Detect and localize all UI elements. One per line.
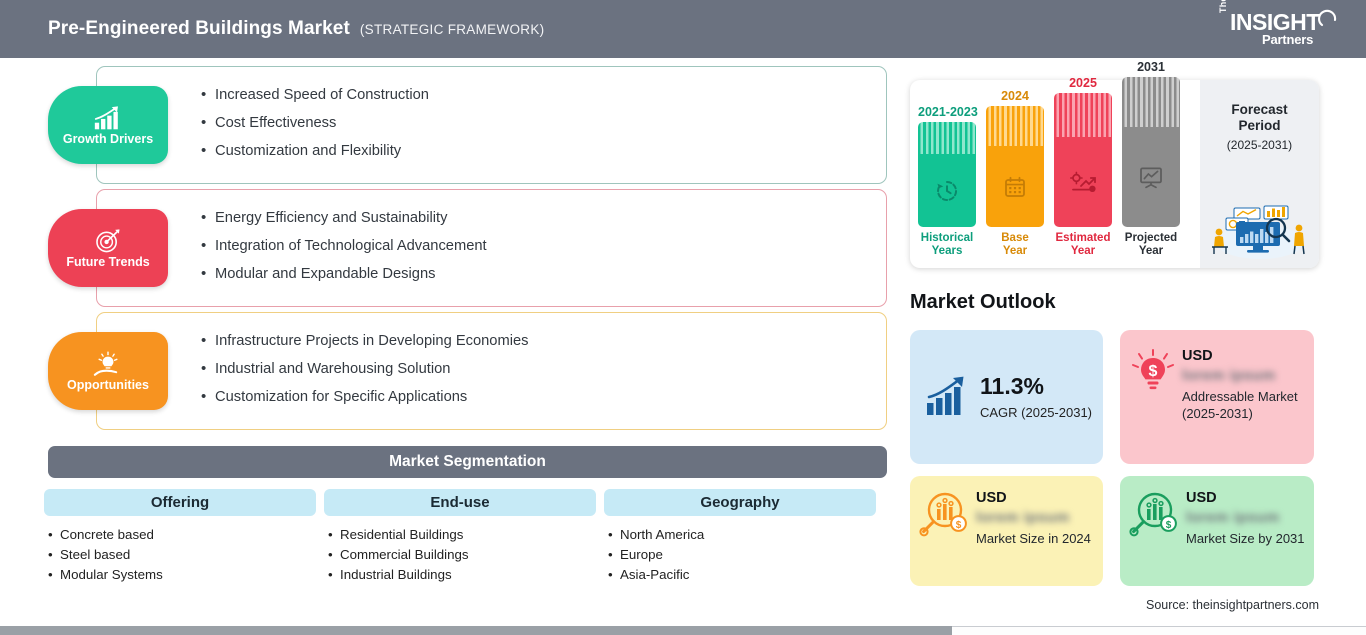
list-item: Europe: [608, 545, 876, 565]
list-item: Concrete based: [48, 525, 316, 545]
list-item: Modular Systems: [48, 565, 316, 585]
svg-text:$: $: [956, 520, 962, 531]
market-outlook-title: Market Outlook: [910, 291, 1056, 314]
bar-solid: [1054, 137, 1112, 227]
list-item: Infrastructure Projects in Developing Ec…: [201, 327, 861, 355]
badge-future-trends[interactable]: Future Trends: [48, 209, 168, 287]
forecast-bar-estimated: 2025: [1054, 76, 1112, 258]
forecast-bars: 2021-2023 Historical Ye: [910, 80, 1200, 268]
forecast-title-line2: Period: [1238, 118, 1280, 133]
bullet-list-opportunities: Infrastructure Projects in Developing Ec…: [201, 327, 861, 411]
forecast-title-line1: Forecast: [1231, 102, 1287, 117]
factor-row-opportunities: Infrastructure Projects in Developing Ec…: [0, 312, 900, 430]
bar-chart-arrow-icon: [924, 375, 972, 419]
outlook-card-body: USD lorem ipsum Market Size in 2024: [976, 490, 1095, 547]
scrollbar-thumb[interactable]: [0, 626, 952, 635]
bar-stripes: [986, 106, 1044, 146]
header-titles: Pre-Engineered Buildings Market (STRATEG…: [48, 18, 544, 40]
list-item: Industrial Buildings: [328, 565, 596, 585]
bar-name-line1: Historical: [921, 232, 973, 244]
hidden-value: lorem ipsum: [1186, 509, 1306, 526]
usd-label: USD: [976, 490, 1095, 506]
bar-name-line1: Projected: [1125, 232, 1177, 244]
list-item: Energy Efficiency and Sustainability: [201, 204, 861, 232]
forecast-period-title: Forecast Period: [1231, 102, 1287, 134]
bar-stripes: [1054, 93, 1112, 137]
clock-history-icon: [934, 178, 960, 204]
outlook-card-addressable-market: $ USD lorem ipsum Addressable Market (20…: [1120, 330, 1314, 464]
logo-the: The: [1218, 0, 1228, 13]
bar-year-label: 2021-2023: [918, 105, 976, 119]
outlook-card-cagr: 11.3% CAGR (2025-2031): [910, 330, 1103, 464]
outlook-card-body: USD lorem ipsum Market Size by 2031: [1186, 490, 1306, 547]
list-item: Commercial Buildings: [328, 545, 596, 565]
bar-name-line1: Estimated: [1056, 232, 1111, 244]
calendar-icon: [1003, 175, 1027, 199]
svg-text:$: $: [1149, 363, 1158, 380]
factor-box-growth-drivers: Increased Speed of Construction Cost Eff…: [96, 66, 887, 184]
badge-label: Opportunities: [67, 379, 149, 392]
bar-name: Historical Years: [918, 232, 976, 258]
outlook-card-caption: Market Size by 2031: [1186, 530, 1306, 547]
list-item: Industrial and Warehousing Solution: [201, 355, 861, 383]
bar-stripes: [1122, 77, 1180, 127]
list-item: Modular and Expandable Designs: [201, 260, 861, 288]
outlook-card-caption: Market Size in 2024: [976, 530, 1095, 547]
forecast-period-card: 2021-2023 Historical Ye: [910, 80, 1319, 268]
bar-year-label: 2025: [1054, 76, 1112, 90]
logo-arc-icon: [1318, 8, 1340, 30]
outlook-card-caption: Addressable Market (2025-2031): [1182, 388, 1304, 422]
lightbulb-dollar-icon: $: [1130, 348, 1176, 396]
badge-label: Growth Drivers: [63, 133, 153, 146]
infographic-page: Pre-Engineered Buildings Market (STRATEG…: [0, 0, 1366, 635]
factor-box-future-trends: Energy Efficiency and Sustainability Int…: [96, 189, 887, 307]
horizontal-scrollbar[interactable]: [0, 626, 1366, 635]
bullet-list-growth-drivers: Increased Speed of Construction Cost Eff…: [201, 81, 861, 165]
forecast-bar-base: 2024: [986, 89, 1044, 258]
list-item: Asia-Pacific: [608, 565, 876, 585]
segmentation-head-label: End-use: [430, 494, 489, 511]
business-analytics-illustration: [1206, 198, 1313, 260]
insight-partners-logo: The INSIGHT Partners: [1214, 7, 1344, 51]
source-attribution: Source: theinsightpartners.com: [910, 598, 1319, 612]
cagr-caption: CAGR (2025-2031): [980, 405, 1103, 420]
bar-name-line2: Year: [1071, 245, 1095, 257]
segmentation-list-geography: North America Europe Asia-Pacific: [604, 525, 876, 585]
outlook-card-body: USD lorem ipsum Addressable Market (2025…: [1182, 348, 1304, 422]
outlook-card-market-size-2031: $ USD lorem ipsum Market Size by 2031: [1120, 476, 1314, 586]
badge-label: Future Trends: [66, 256, 149, 269]
bar-name: Estimated Year: [1054, 232, 1112, 258]
magnifier-chart-dollar-icon: $: [918, 490, 970, 538]
hand-lightbulb-icon: [92, 350, 124, 378]
factor-box-opportunities: Infrastructure Projects in Developing Ec…: [96, 312, 887, 430]
bullet-list-future-trends: Energy Efficiency and Sustainability Int…: [201, 204, 861, 288]
right-column: 2021-2023 Historical Ye: [905, 58, 1366, 635]
segmentation-list-offering: Concrete based Steel based Modular Syste…: [44, 525, 316, 585]
segmentation-columns: Offering Concrete based Steel based Modu…: [44, 489, 892, 585]
page-subtitle: (STRATEGIC FRAMEWORK): [360, 22, 545, 37]
list-item: Integration of Technological Advancement: [201, 232, 861, 260]
hidden-value: lorem ipsum: [976, 509, 1095, 526]
bar-name-line1: Base: [1001, 232, 1029, 244]
list-item: Residential Buildings: [328, 525, 596, 545]
bar-name: Projected Year: [1122, 232, 1180, 258]
badge-growth-drivers[interactable]: Growth Drivers: [48, 86, 168, 164]
left-column: Increased Speed of Construction Cost Eff…: [0, 58, 900, 635]
segmentation-head-label: Offering: [151, 494, 209, 511]
usd-label: USD: [1182, 348, 1304, 364]
bar-year-label: 2024: [986, 89, 1044, 103]
logo-partners: Partners: [1262, 32, 1313, 47]
forecast-period-panel: Forecast Period (2025-2031): [1200, 80, 1319, 268]
segmentation-head-geography: Geography: [604, 489, 876, 516]
list-item: Customization and Flexibility: [201, 137, 861, 165]
presentation-chart-icon: [1138, 165, 1164, 189]
segmentation-head-offering: Offering: [44, 489, 316, 516]
forecast-gear-icon: [1069, 170, 1097, 194]
bar-name-line2: Years: [932, 245, 963, 257]
svg-text:$: $: [1166, 520, 1172, 531]
segmentation-column-offering: Offering Concrete based Steel based Modu…: [44, 489, 316, 585]
segmentation-head-end-use: End-use: [324, 489, 596, 516]
segmentation-column-geography: Geography North America Europe Asia-Paci…: [604, 489, 876, 585]
list-item: North America: [608, 525, 876, 545]
forecast-bar-projected: 2031 Projected: [1122, 60, 1180, 258]
list-item: Customization for Specific Applications: [201, 383, 861, 411]
factor-row-growth-drivers: Increased Speed of Construction Cost Eff…: [0, 66, 900, 184]
bar-stripes: [918, 122, 976, 154]
bar-name-line2: Year: [1139, 245, 1163, 257]
segmentation-list-end-use: Residential Buildings Commercial Buildin…: [324, 525, 596, 585]
factor-row-future-trends: Energy Efficiency and Sustainability Int…: [0, 189, 900, 307]
cagr-value: 11.3%: [980, 375, 1103, 398]
bar-solid: [986, 146, 1044, 227]
list-item: Cost Effectiveness: [201, 109, 861, 137]
page-header: Pre-Engineered Buildings Market (STRATEG…: [0, 0, 1366, 58]
page-title: Pre-Engineered Buildings Market: [48, 18, 350, 40]
outlook-card-market-size-2024: $ USD lorem ipsum Market Size in 2024: [910, 476, 1103, 586]
target-dart-icon: [92, 227, 124, 255]
hidden-value: lorem ipsum: [1182, 367, 1304, 384]
bar-solid: [1122, 127, 1180, 227]
outlook-card-body: 11.3% CAGR (2025-2031): [980, 375, 1103, 420]
forecast-period-range: (2025-2031): [1227, 138, 1292, 152]
segmentation-head-label: Geography: [700, 494, 779, 511]
bar-name: Base Year: [986, 232, 1044, 258]
bar-year-label: 2031: [1122, 60, 1180, 74]
market-segmentation-banner: Market Segmentation: [48, 446, 887, 478]
magnifier-chart-dollar-icon: $: [1128, 490, 1180, 538]
bar-solid: [918, 154, 976, 227]
usd-label: USD: [1186, 490, 1306, 506]
market-segmentation-title: Market Segmentation: [389, 453, 546, 471]
bar-chart-arrow-up-icon: [92, 104, 124, 132]
list-item: Increased Speed of Construction: [201, 81, 861, 109]
bar-name-line2: Year: [1003, 245, 1027, 257]
forecast-bar-historical: 2021-2023 Historical Ye: [918, 105, 976, 258]
segmentation-column-end-use: End-use Residential Buildings Commercial…: [324, 489, 596, 585]
list-item: Steel based: [48, 545, 316, 565]
badge-opportunities[interactable]: Opportunities: [48, 332, 168, 410]
